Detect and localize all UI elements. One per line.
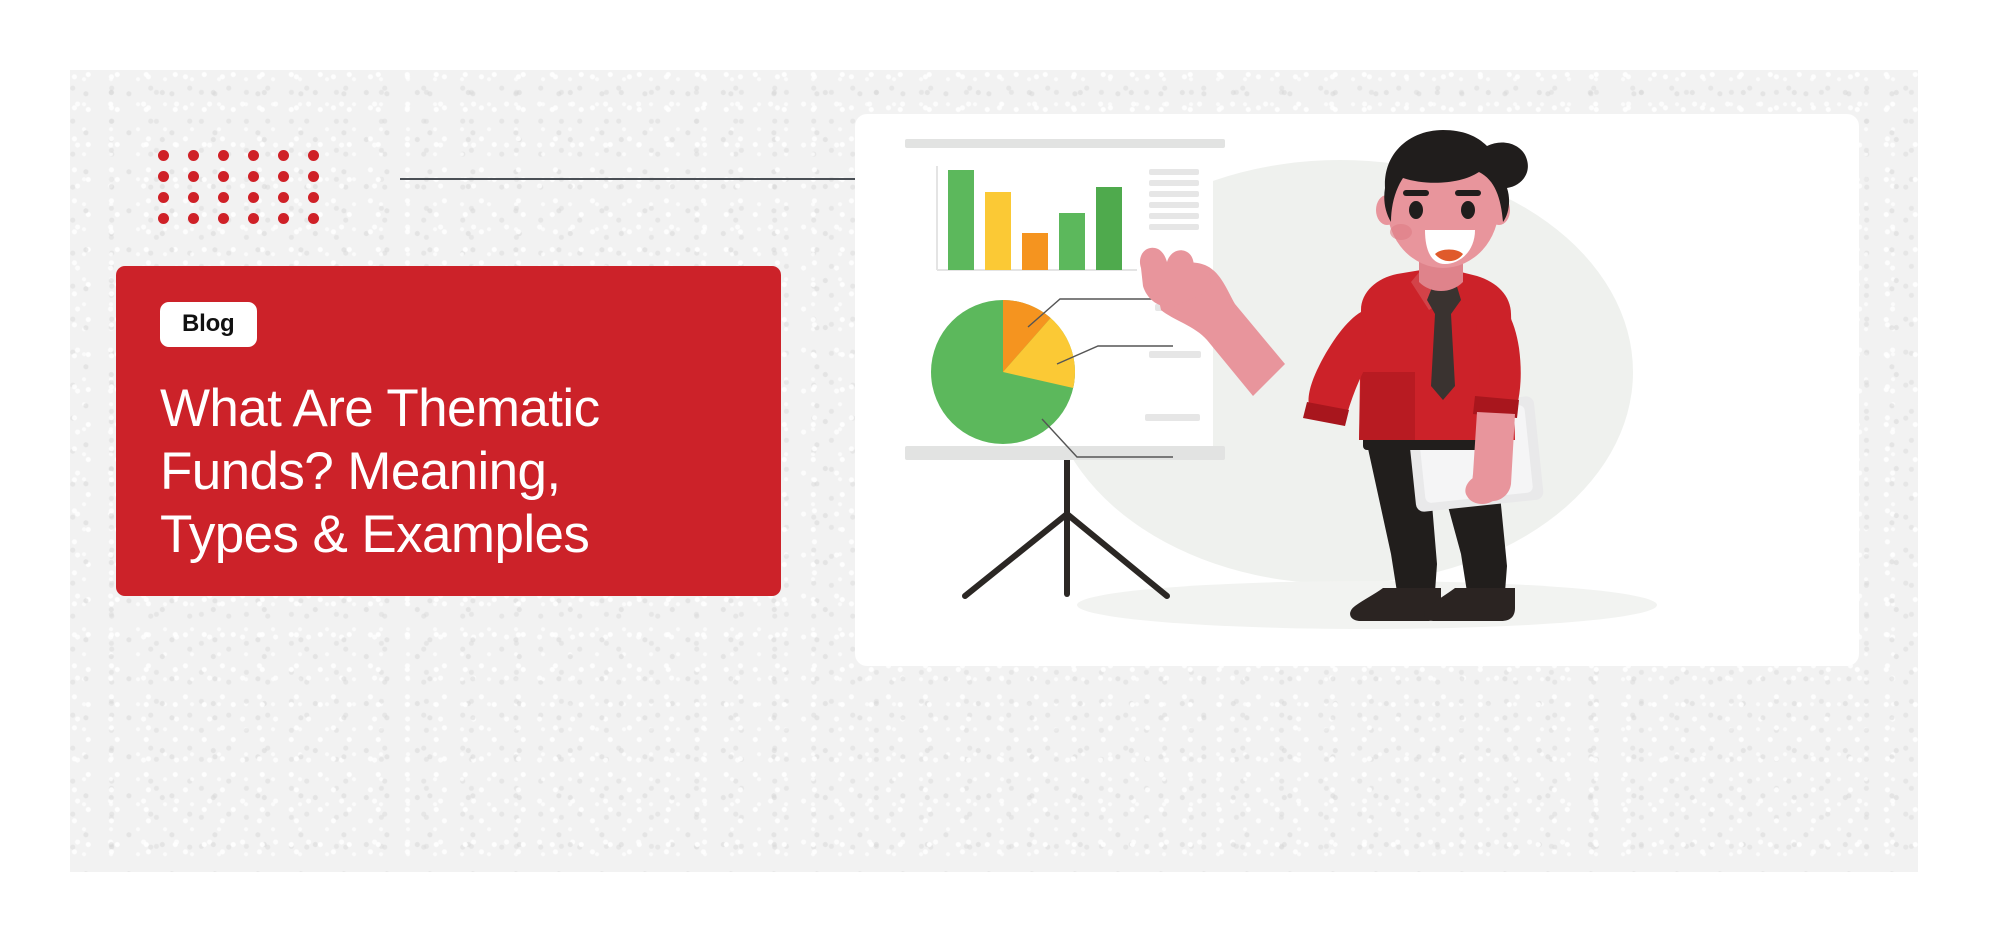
grid-dot [188, 213, 199, 224]
grid-dot [158, 171, 169, 182]
cheek-blush [1390, 224, 1412, 240]
grid-dot [218, 171, 229, 182]
page-root: Blog What Are Thematic Funds? Meaning, T… [0, 0, 1990, 947]
illustration-card [855, 114, 1859, 666]
grid-dot [308, 192, 319, 203]
bar-5 [1096, 187, 1122, 270]
grid-dot [278, 213, 289, 224]
board-bar-chart [933, 164, 1138, 274]
grid-dot [218, 150, 229, 161]
page-title: What Are Thematic Funds? Meaning, Types … [160, 377, 680, 566]
grid-dot [248, 213, 259, 224]
bar-4 [1059, 213, 1085, 270]
grid-dot [248, 150, 259, 161]
grid-dot [248, 171, 259, 182]
grid-dot [218, 213, 229, 224]
grid-dot [188, 192, 199, 203]
bar-1 [948, 170, 974, 270]
grid-dot [248, 192, 259, 203]
board-pie-chart [931, 300, 1075, 444]
eyebrow-left [1403, 190, 1429, 196]
grid-dot [308, 213, 319, 224]
presenter-with-charts-illustration [855, 114, 1859, 666]
blog-badge: Blog [160, 302, 257, 347]
grid-dot [278, 192, 289, 203]
grid-dot [278, 171, 289, 182]
shirt-shadow [1359, 372, 1415, 440]
board-bottom-rail [905, 446, 1225, 460]
bar-2 [985, 192, 1011, 270]
bar-3 [1022, 233, 1048, 270]
grid-dot [158, 192, 169, 203]
eye-right [1461, 201, 1475, 219]
dot-grid [158, 150, 338, 234]
horizontal-rule [400, 178, 855, 180]
grid-dot [188, 150, 199, 161]
grid-dot [158, 150, 169, 161]
grid-dot [218, 192, 229, 203]
eye-left [1409, 201, 1423, 219]
grid-dot [308, 171, 319, 182]
grid-dot [308, 150, 319, 161]
grid-dot [158, 213, 169, 224]
headline-card: Blog What Are Thematic Funds? Meaning, T… [116, 266, 781, 596]
eyebrow-right [1455, 190, 1481, 196]
grid-dot [278, 150, 289, 161]
grid-dot [188, 171, 199, 182]
board-top-rail [905, 139, 1225, 148]
